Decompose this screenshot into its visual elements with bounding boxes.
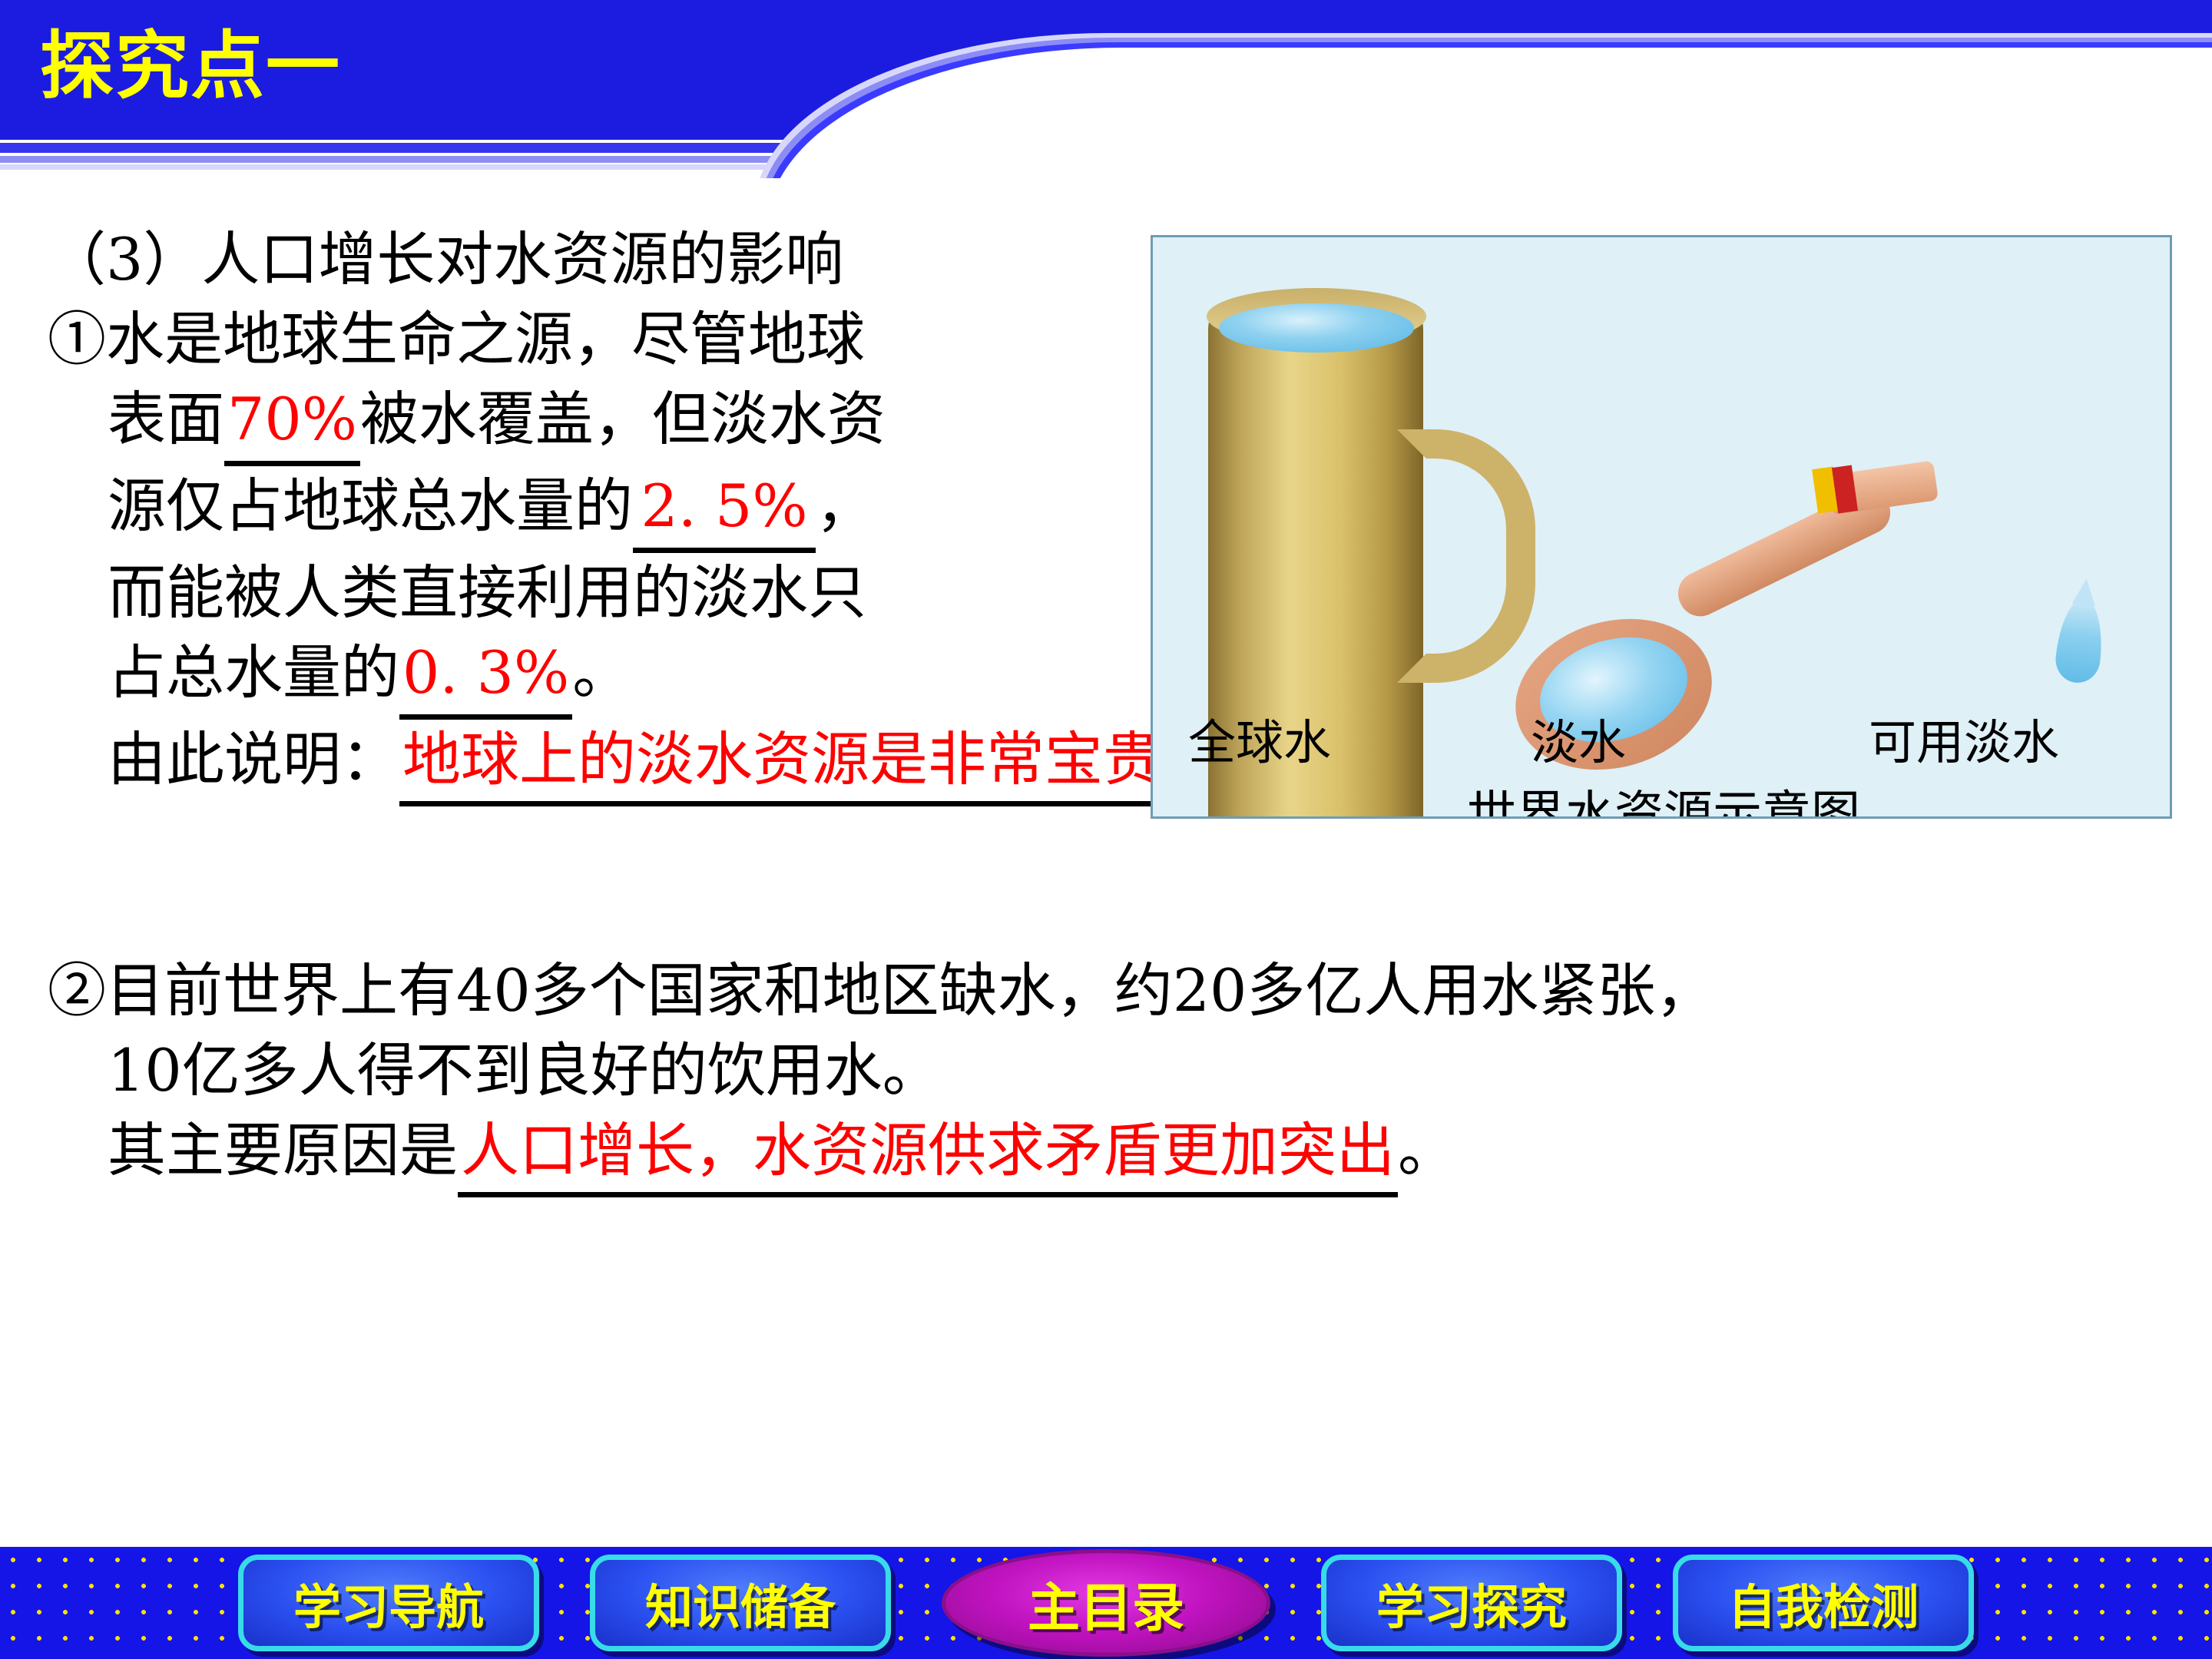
nav-button-label: 知识储备 bbox=[645, 1568, 836, 1637]
mug-water-icon bbox=[1219, 303, 1414, 353]
lesson-text: 而能被人类直接利用的淡水只 bbox=[108, 558, 866, 627]
lesson-text: 其主要原因是 bbox=[108, 1116, 458, 1184]
nav-button-3[interactable]: 主目录 bbox=[942, 1549, 1270, 1657]
lesson-line: （3）人口增长对水资源的影响 bbox=[48, 220, 1138, 300]
nav-button-4[interactable]: 学习探究 bbox=[1321, 1555, 1622, 1651]
lesson-text: 由此说明： bbox=[108, 725, 399, 793]
nav-button-label: 主目录 bbox=[1028, 1565, 1184, 1641]
lesson-line: 而能被人类直接利用的淡水只 bbox=[48, 553, 1138, 633]
lesson-text: 。 bbox=[572, 638, 631, 707]
figure-label-usable-fresh-water: 可用淡水 bbox=[1869, 714, 2059, 772]
footer-nav: 学习导航知识储备主目录学习探究自我检测 bbox=[0, 1547, 2212, 1659]
lesson-text: （3）人口增长对水资源的影响 bbox=[48, 225, 843, 293]
lesson-body-upper: （3）人口增长对水资源的影响①水是地球生命之源，尽管地球表面70%被水覆盖，但淡… bbox=[48, 220, 1138, 806]
lesson-text: 表面 bbox=[108, 385, 224, 453]
lesson-text: ， bbox=[816, 472, 874, 540]
lesson-text: 源仅占地球总水量的 bbox=[108, 472, 633, 540]
lesson-line: 由此说明：地球上的淡水资源是非常宝贵的。 bbox=[48, 720, 1138, 806]
water-drop-icon bbox=[2053, 596, 2106, 684]
nav-button-2[interactable]: 知识储备 bbox=[590, 1555, 891, 1651]
lesson-line: 10亿多人得不到良好的饮用水。 bbox=[48, 1031, 2167, 1111]
lesson-line: 表面70%被水覆盖，但淡水资 bbox=[48, 379, 1138, 466]
lesson-text: 。 bbox=[1398, 1116, 1456, 1184]
slide-header: 探究点一 bbox=[0, 0, 2212, 178]
answer-blank: 地球上的淡水资源是非常宝贵的 bbox=[399, 720, 1223, 806]
lesson-line: ②目前世界上有40多个国家和地区缺水，约20多亿人用水紧张， bbox=[48, 951, 2167, 1031]
lesson-body-lower: ②目前世界上有40多个国家和地区缺水，约20多亿人用水紧张，10亿多人得不到良好… bbox=[48, 951, 2167, 1197]
mug-handle-icon bbox=[1397, 429, 1535, 683]
header-curve-decoration bbox=[768, 48, 2212, 178]
nav-button-label: 学习探究 bbox=[1376, 1568, 1567, 1637]
answer-blank: 0. 3% bbox=[399, 633, 572, 720]
lesson-line: ①水是地球生命之源，尽管地球 bbox=[48, 300, 1138, 379]
lesson-text: 被水覆盖，但淡水资 bbox=[360, 385, 886, 453]
figure-caption: 世界水资源示意图 bbox=[1153, 775, 2172, 819]
lesson-line: 占总水量的0. 3%。 bbox=[48, 633, 1138, 720]
lesson-text: ①水是地球生命之源，尽管地球 bbox=[48, 305, 865, 373]
lesson-text: ②目前世界上有40多个国家和地区缺水，约20多亿人用水紧张， bbox=[48, 956, 1714, 1025]
nav-button-5[interactable]: 自我检测 bbox=[1673, 1555, 1974, 1651]
water-resources-figure: 全球水 淡水 可用淡水 世界水资源示意图 bbox=[1151, 235, 2172, 819]
page-title: 探究点一 bbox=[40, 26, 341, 106]
answer-blank: 70% bbox=[224, 379, 360, 466]
lesson-line: 其主要原因是人口增长，水资源供求矛盾更加突出。 bbox=[48, 1111, 2167, 1197]
figure-label-global-water: 全球水 bbox=[1188, 714, 1331, 772]
figure-label-fresh-water: 淡水 bbox=[1531, 714, 1626, 772]
answer-blank: 人口增长，水资源供求矛盾更加突出 bbox=[458, 1111, 1398, 1197]
answer-blank: 2. 5% bbox=[633, 466, 816, 553]
lesson-text: 占总水量的 bbox=[108, 638, 399, 707]
nav-button-label: 自我检测 bbox=[1728, 1568, 1919, 1637]
nav-button-label: 学习导航 bbox=[293, 1568, 484, 1637]
nav-button-1[interactable]: 学习导航 bbox=[238, 1555, 539, 1651]
lesson-line: 源仅占地球总水量的2. 5%， bbox=[48, 466, 1138, 553]
lesson-text: 10亿多人得不到良好的饮用水。 bbox=[108, 1036, 941, 1104]
